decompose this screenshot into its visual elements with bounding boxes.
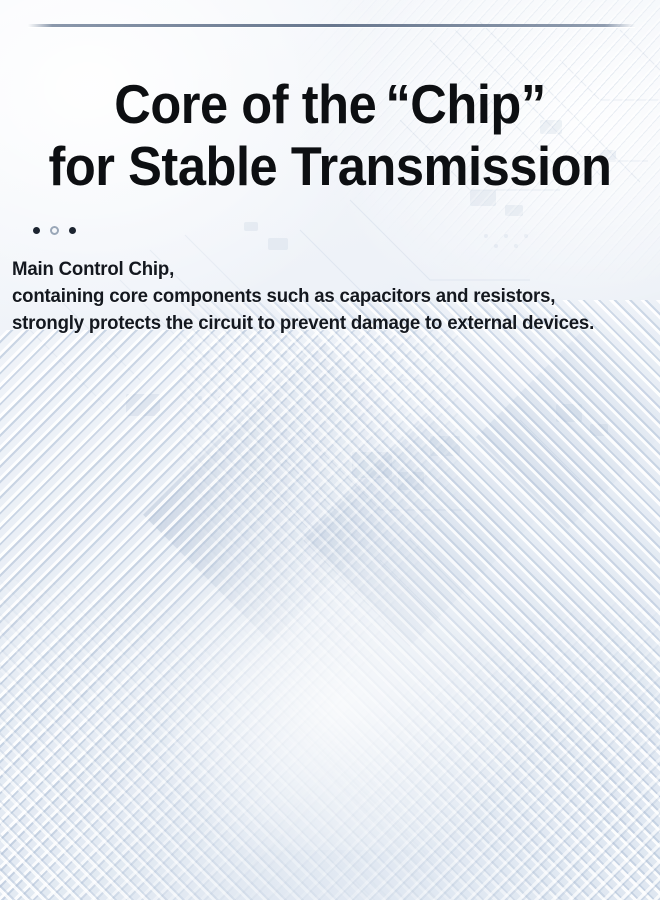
chip-glow: [150, 530, 530, 850]
dot-hollow-icon: [50, 226, 59, 235]
description-line-2: containing core components such as capac…: [12, 283, 627, 310]
description-text: Main Control Chip, containing core compo…: [12, 256, 627, 337]
page-title: Core of the“Chip” for Stable Transmissio…: [26, 73, 633, 197]
chip-hero-image: [0, 470, 660, 900]
page-title-line-2: for Stable Transmission: [26, 135, 633, 197]
dot-filled-2-icon: [69, 227, 76, 234]
dot-filled-1-icon: [33, 227, 40, 234]
description-line-1: Main Control Chip,: [12, 256, 627, 283]
top-divider: [28, 24, 635, 27]
decorative-dots: [33, 226, 76, 235]
page-title-line-1: Core of the“Chip”: [26, 73, 633, 135]
page-title-quoted-word: “Chip”: [385, 73, 545, 135]
promo-banner: Core of the“Chip” for Stable Transmissio…: [0, 0, 660, 900]
page-title-text: Core of the: [114, 73, 376, 135]
description-line-3: strongly protects the circuit to prevent…: [12, 310, 627, 337]
